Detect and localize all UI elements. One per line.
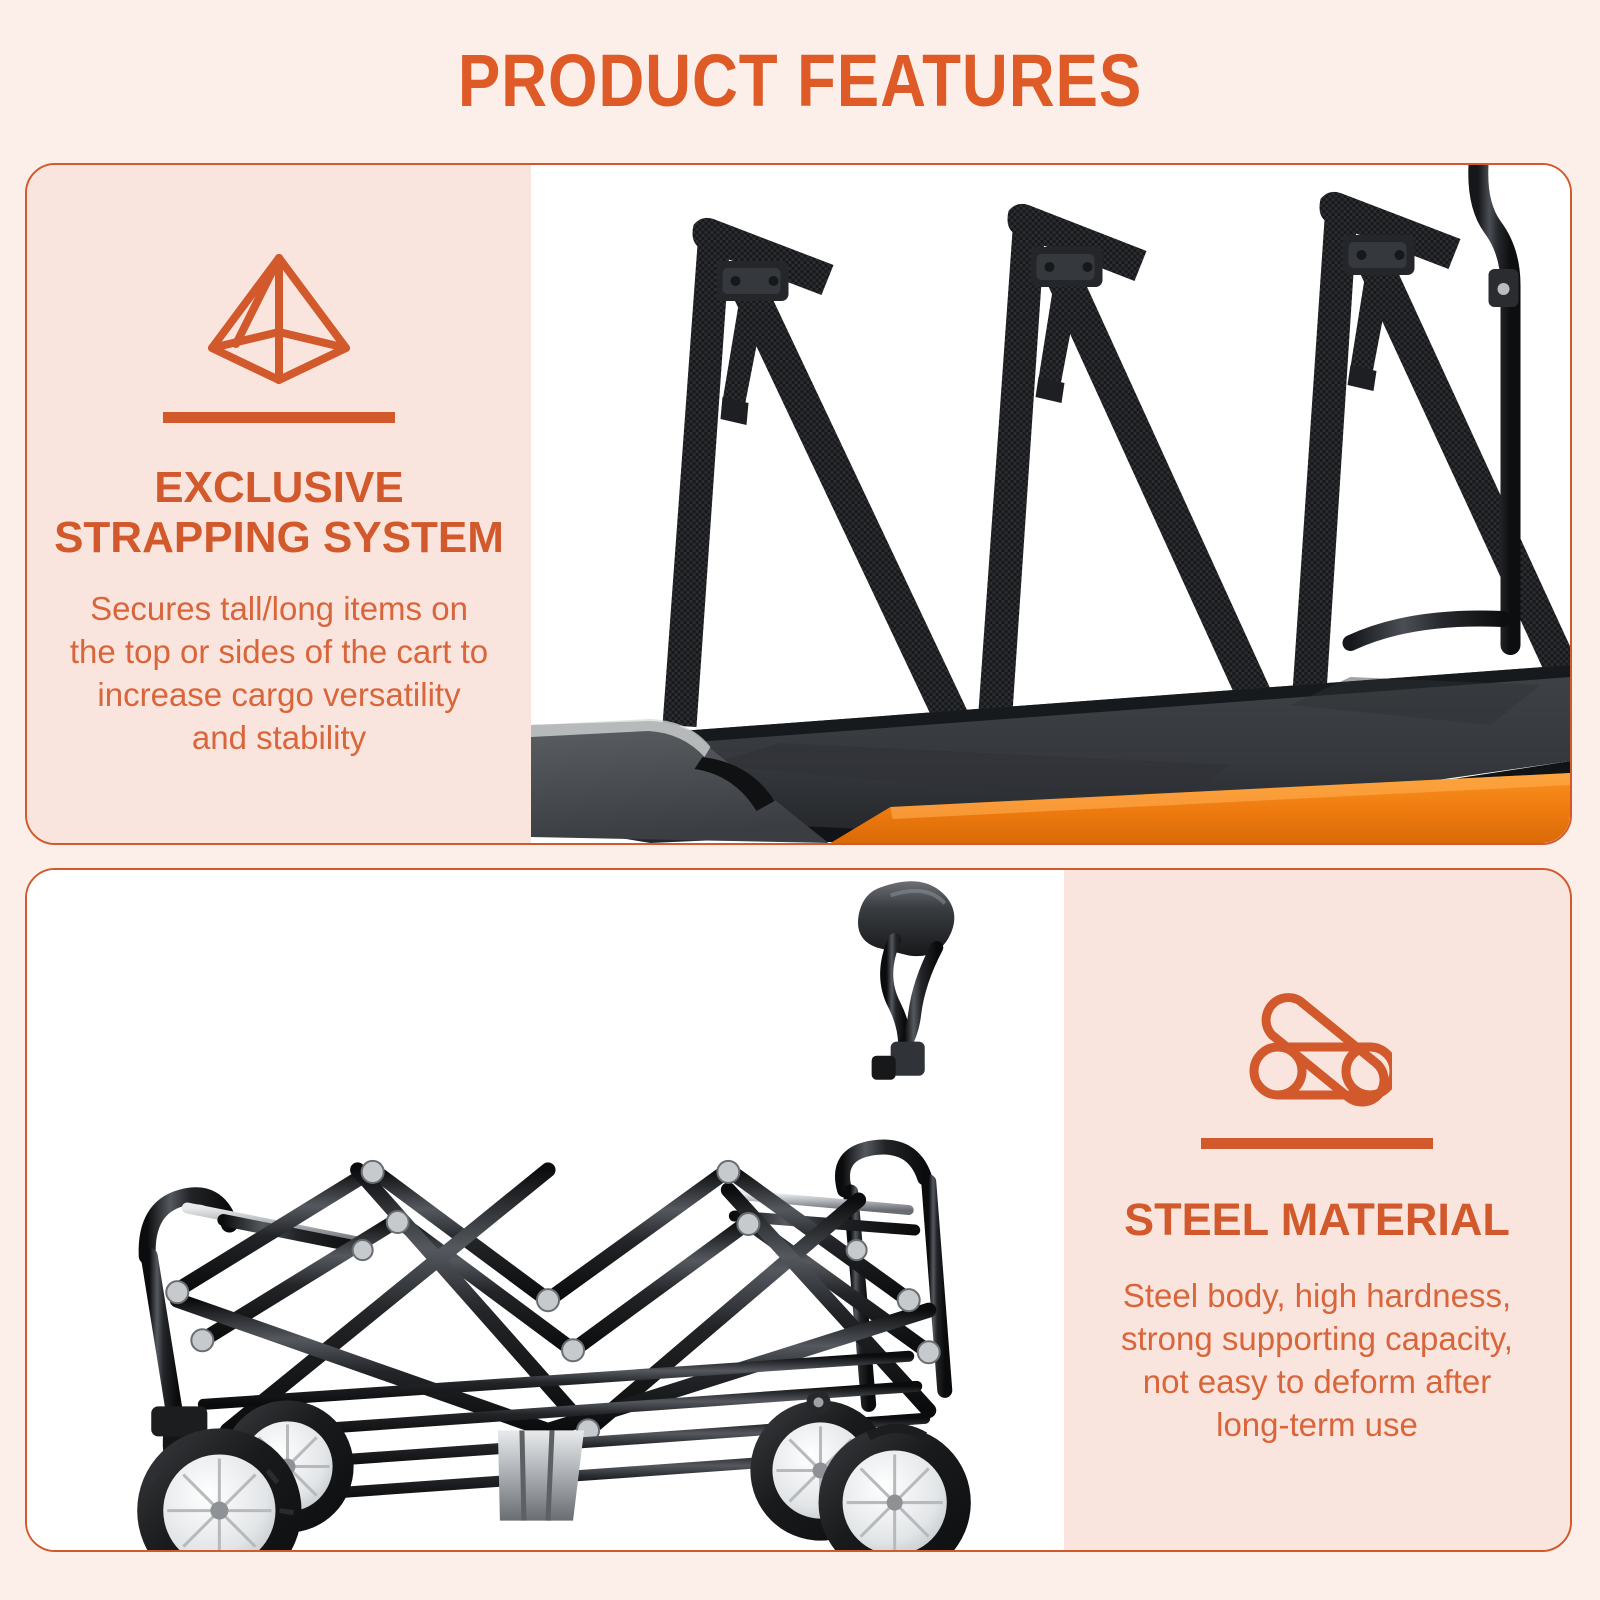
accent-rule: [163, 412, 395, 423]
feature-headline-strapping: EXCLUSIVE STRAPPING SYSTEM: [54, 463, 504, 562]
infographic-page: PRODUCT FEATURES: [0, 0, 1600, 1600]
strap-photo-illustration: [531, 165, 1570, 843]
cart-strapping-photo: [531, 165, 1570, 843]
folded-steel-cart-photo: [27, 870, 1064, 1550]
feature-body-steel: Steel body, high hardness, strong suppor…: [1121, 1275, 1513, 1447]
feature-text-column-strapping: EXCLUSIVE STRAPPING SYSTEM Secures tall/…: [27, 165, 531, 843]
cart-photo-illustration: [27, 870, 1064, 1550]
feature-text-column-steel: STEEL MATERIAL Steel body, high hardness…: [1064, 870, 1570, 1550]
accent-rule: [1201, 1138, 1433, 1149]
feature-body-strapping: Secures tall/long items on the top or si…: [70, 588, 488, 760]
feature-card-strapping-system: EXCLUSIVE STRAPPING SYSTEM Secures tall/…: [25, 163, 1572, 845]
page-title: PRODUCT FEATURES: [112, 38, 1488, 123]
feature-card-steel-material: STEEL MATERIAL Steel body, high hardness…: [25, 868, 1572, 1552]
feature-headline-steel: STEEL MATERIAL: [1124, 1195, 1510, 1245]
steel-tubes-icon: [1242, 974, 1392, 1116]
pyramid-wireframe-icon: [204, 248, 354, 390]
